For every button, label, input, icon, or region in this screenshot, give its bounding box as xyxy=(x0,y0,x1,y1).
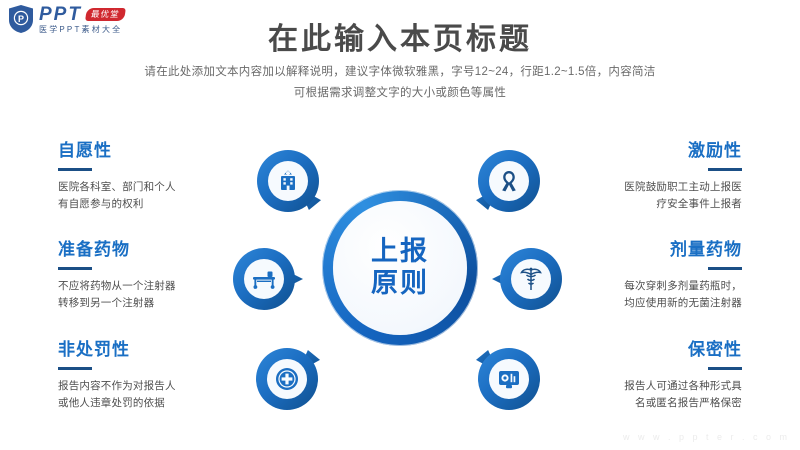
block-description: 不应将药物从一个注射器 转移到另一个注射器 xyxy=(58,278,234,313)
title-underline xyxy=(708,367,742,370)
desc-line-1: 报告内容不作为对报告人 xyxy=(58,378,234,395)
info-block-incentive[interactable]: 激励性 医院鼓励职工主动上报医 疗安全事件上报者 xyxy=(566,142,742,213)
page-title: 在此输入本页标题 xyxy=(0,14,800,58)
title-underline xyxy=(58,267,92,270)
page-subtitle: 请在此处添加文本内容加以解释说明，建议字体微软雅黑，字号12~24，行距1.2~… xyxy=(0,62,800,105)
subtitle-line-1: 请在此处添加文本内容加以解释说明，建议字体微软雅黑，字号12~24，行距1.2~… xyxy=(0,62,800,83)
desc-line-1: 每次穿刺多剂量药瓶时， xyxy=(566,278,742,295)
desc-line-2: 转移到另一个注射器 xyxy=(58,295,234,312)
bubble-bed[interactable] xyxy=(233,248,295,310)
info-block-confidential[interactable]: 保密性 报告人可通过各种形式具 名或匿名报告严格保密 xyxy=(566,341,742,412)
bubble-monitor[interactable] xyxy=(478,348,540,410)
title-underline xyxy=(708,267,742,270)
block-description: 每次穿刺多剂量药瓶时， 均应使用新的无菌注射器 xyxy=(566,278,742,313)
center-principle-circle[interactable]: 上报 原则 xyxy=(322,190,478,346)
awareness-ribbon-icon xyxy=(489,161,529,201)
block-description: 报告人可通过各种形式具 名或匿名报告严格保密 xyxy=(566,378,742,413)
block-title: 自愿性 xyxy=(58,142,234,161)
bubble-cross[interactable] xyxy=(256,348,318,410)
center-label: 上报 原则 xyxy=(322,190,478,346)
block-title: 激励性 xyxy=(566,142,742,161)
title-underline xyxy=(58,168,92,171)
subtitle-line-2: 可根据需求调整文字的大小或颜色等属性 xyxy=(0,83,800,104)
caduceus-icon xyxy=(511,259,551,299)
bubble-caduceus[interactable] xyxy=(500,248,562,310)
center-label-line-2: 原则 xyxy=(371,268,429,300)
info-block-voluntary[interactable]: 自愿性 医院各科室、部门和个人 有自愿参与的权利 xyxy=(58,142,234,213)
desc-line-1: 医院鼓励职工主动上报医 xyxy=(566,179,742,196)
block-description: 报告内容不作为对报告人 或他人违章处罚的依据 xyxy=(58,378,234,413)
patient-monitor-icon xyxy=(489,359,529,399)
desc-line-2: 均应使用新的无菌注射器 xyxy=(566,295,742,312)
desc-line-1: 不应将药物从一个注射器 xyxy=(58,278,234,295)
info-block-non-punitive[interactable]: 非处罚性 报告内容不作为对报告人 或他人违章处罚的依据 xyxy=(58,341,234,412)
bubble-hospital[interactable] xyxy=(257,150,319,212)
info-block-prepare-drug[interactable]: 准备药物 不应将药物从一个注射器 转移到另一个注射器 xyxy=(58,241,234,312)
info-block-dose-drug[interactable]: 剂量药物 每次穿刺多剂量药瓶时， 均应使用新的无菌注射器 xyxy=(566,241,742,312)
block-title: 剂量药物 xyxy=(566,241,742,260)
site-watermark: w w w . p p t e r . c o m xyxy=(623,432,790,442)
block-title: 保密性 xyxy=(566,341,742,360)
block-description: 医院鼓励职工主动上报医 疗安全事件上报者 xyxy=(566,179,742,214)
hospital-bed-icon xyxy=(244,259,284,299)
desc-line-2: 或他人违章处罚的依据 xyxy=(58,395,234,412)
desc-line-1: 报告人可通过各种形式具 xyxy=(566,378,742,395)
bubble-ribbon[interactable] xyxy=(478,150,540,212)
desc-line-2: 疗安全事件上报者 xyxy=(566,196,742,213)
title-underline xyxy=(58,367,92,370)
title-underline xyxy=(708,168,742,171)
center-label-line-1: 上报 xyxy=(371,236,429,268)
medical-cross-icon xyxy=(267,359,307,399)
desc-line-2: 有自愿参与的权利 xyxy=(58,196,234,213)
block-description: 医院各科室、部门和个人 有自愿参与的权利 xyxy=(58,179,234,214)
block-title: 准备药物 xyxy=(58,241,234,260)
desc-line-1: 医院各科室、部门和个人 xyxy=(58,179,234,196)
desc-line-2: 名或匿名报告严格保密 xyxy=(566,395,742,412)
block-title: 非处罚性 xyxy=(58,341,234,360)
hospital-building-icon xyxy=(268,161,308,201)
